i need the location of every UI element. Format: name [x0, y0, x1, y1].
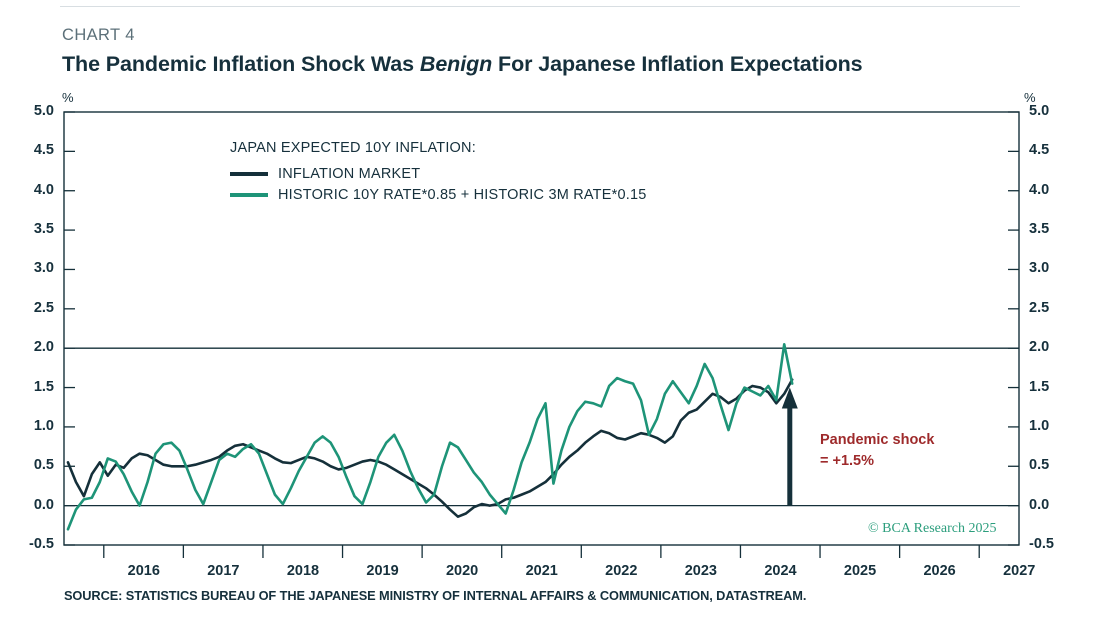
legend-label-inflation-market: INFLATION MARKET — [278, 166, 420, 182]
y-tick-label-right: 0.0 — [1029, 497, 1069, 513]
legend-title: JAPAN EXPECTED 10Y INFLATION: — [230, 140, 646, 156]
legend-swatch-inflation-market — [230, 172, 268, 176]
x-tick-label: 2018 — [268, 563, 338, 579]
y-tick-label-left: 2.5 — [14, 300, 54, 316]
y-tick-label-left: 0.5 — [14, 457, 54, 473]
x-tick-label: 2026 — [905, 563, 975, 579]
x-tick-label: 2025 — [825, 563, 895, 579]
chart-legend: JAPAN EXPECTED 10Y INFLATION: INFLATION … — [230, 140, 646, 208]
y-tick-label-right: 2.5 — [1029, 300, 1069, 316]
legend-item-inflation-market: INFLATION MARKET — [230, 166, 646, 182]
y-tick-label-right: 5.0 — [1029, 103, 1069, 119]
y-tick-label-right: 1.5 — [1029, 379, 1069, 395]
legend-swatch-historic-rate — [230, 193, 268, 197]
pandemic-shock-annotation: Pandemic shock = +1.5% — [820, 430, 934, 472]
y-tick-label-left: -0.5 — [14, 536, 54, 552]
y-tick-label-left: 1.0 — [14, 418, 54, 434]
annotation-arrow-head — [782, 388, 798, 409]
x-tick-label: 2027 — [984, 563, 1054, 579]
y-tick-label-left: 4.0 — [14, 182, 54, 198]
y-tick-label-right: -0.5 — [1029, 536, 1069, 552]
source-note: SOURCE: STATISTICS BUREAU OF THE JAPANES… — [64, 588, 806, 603]
y-tick-label-left: 4.5 — [14, 142, 54, 158]
y-tick-label-left: 0.0 — [14, 497, 54, 513]
x-tick-label: 2019 — [348, 563, 418, 579]
x-tick-label: 2020 — [427, 563, 497, 579]
y-tick-label-right: 4.5 — [1029, 142, 1069, 158]
chart-page: CHART 4 The Pandemic Inflation Shock Was… — [0, 0, 1101, 617]
y-tick-label-right: 1.0 — [1029, 418, 1069, 434]
y-tick-label-right: 0.5 — [1029, 457, 1069, 473]
x-tick-label: 2017 — [188, 563, 258, 579]
y-tick-label-right: 3.5 — [1029, 221, 1069, 237]
y-tick-label-right: 2.0 — [1029, 339, 1069, 355]
y-tick-label-left: 5.0 — [14, 103, 54, 119]
legend-item-historic-rate: HISTORIC 10Y RATE*0.85 + HISTORIC 3M RAT… — [230, 187, 646, 203]
x-tick-label: 2022 — [586, 563, 656, 579]
series-line-historic-rate — [68, 344, 792, 529]
legend-label-historic-rate: HISTORIC 10Y RATE*0.85 + HISTORIC 3M RAT… — [278, 187, 646, 203]
y-tick-label-left: 3.0 — [14, 260, 54, 276]
annotation-line-2: = +1.5% — [820, 451, 934, 472]
y-tick-label-right: 4.0 — [1029, 182, 1069, 198]
y-tick-label-left: 1.5 — [14, 379, 54, 395]
copyright-notice: © BCA Research 2025 — [868, 521, 996, 537]
y-tick-label-left: 3.5 — [14, 221, 54, 237]
y-tick-label-left: 2.0 — [14, 339, 54, 355]
x-tick-label: 2023 — [666, 563, 736, 579]
annotation-line-1: Pandemic shock — [820, 430, 934, 451]
x-tick-label: 2021 — [507, 563, 577, 579]
x-tick-label: 2016 — [109, 563, 179, 579]
y-tick-label-right: 3.0 — [1029, 260, 1069, 276]
x-tick-label: 2024 — [745, 563, 815, 579]
